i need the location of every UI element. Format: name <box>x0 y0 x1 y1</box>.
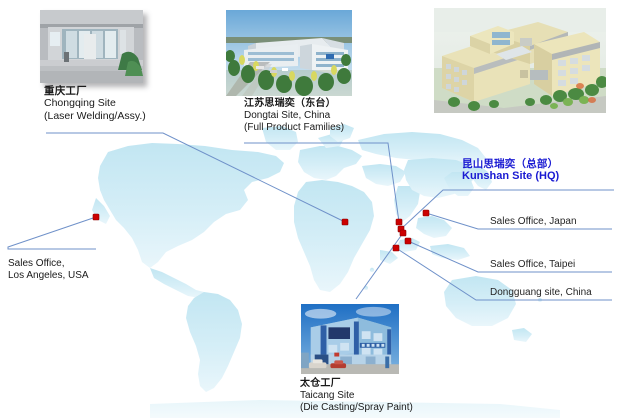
leader-taicang <box>356 233 403 299</box>
taicang-label-detail: (Die Casting/Spray Paint) <box>300 402 413 414</box>
marker-los-angeles <box>93 214 99 220</box>
dongtai-label: 江苏思瑞奕（东台） Dongtai Site, China (Full Prod… <box>244 98 344 133</box>
leader-chongqing <box>46 133 345 222</box>
chongqing-label-detail: (Laser Welding/Assy.) <box>44 110 146 122</box>
marker-dongguang <box>393 245 399 251</box>
marker-dongtai <box>396 219 402 225</box>
dongtai-site-photo <box>226 10 352 96</box>
taicang-label-cn: 太仓工厂 <box>300 378 413 390</box>
dongtai-label-cn: 江苏思瑞奕（东台） <box>244 98 344 110</box>
dongtai-label-en: Dongtai Site, China <box>244 110 344 122</box>
japan-label: Sales Office, Japan <box>490 216 577 227</box>
kunshan-label-en: Kunshan Site (HQ) <box>462 170 559 183</box>
chongqing-label-en: Chongqing Site <box>44 97 146 109</box>
marker-chongqing <box>342 219 348 225</box>
kunshan-hq-label: 昆山思瑞奕（总部） Kunshan Site (HQ) <box>462 158 559 183</box>
marker-taicang <box>400 230 406 236</box>
taicang-label: 太仓工厂 Taicang Site (Die Casting/Spray Pai… <box>300 378 413 413</box>
kunshan-site-photo <box>434 8 606 113</box>
kunshan-label-cn: 昆山思瑞奕（总部） <box>462 158 559 170</box>
dongtai-label-detail: (Full Product Families) <box>244 122 344 134</box>
marker-taipei <box>405 238 411 244</box>
taicang-label-en: Taicang Site <box>300 390 413 402</box>
taicang-site-photo <box>300 303 400 375</box>
chongqing-site-photo <box>40 10 143 83</box>
chongqing-label: 重庆工厂 Chongqing Site (Laser Welding/Assy.… <box>44 85 146 122</box>
los-angeles-label: Sales Office, Los Angeles, USA <box>8 258 89 282</box>
slide-canvas: 重庆工厂 Chongqing Site (Laser Welding/Assy.… <box>0 0 622 418</box>
taipei-label: Sales Office, Taipei <box>490 259 575 270</box>
chongqing-label-cn: 重庆工厂 <box>44 85 146 97</box>
site-markers <box>93 210 429 251</box>
leader-los-angeles <box>8 217 96 249</box>
marker-japan <box>423 210 429 216</box>
los-angeles-label-line2: Los Angeles, USA <box>8 270 89 282</box>
dongguang-label: Dongguang site, China <box>490 287 592 298</box>
los-angeles-label-line1: Sales Office, <box>8 258 89 270</box>
